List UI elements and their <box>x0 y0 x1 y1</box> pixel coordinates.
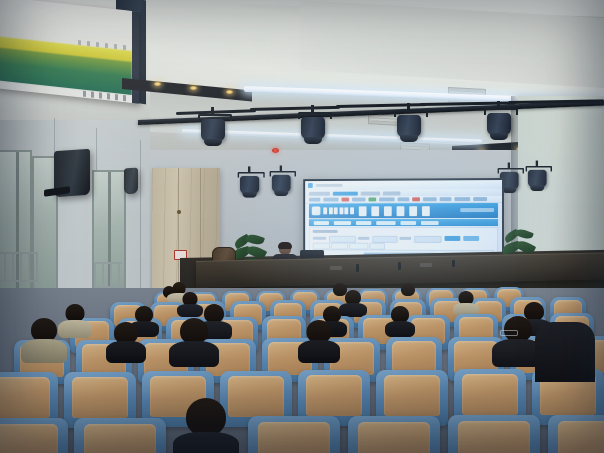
filter-input[interactable] <box>372 236 397 242</box>
attendee <box>496 316 540 358</box>
toolbar-button[interactable] <box>398 197 410 201</box>
primary-navigation-bar <box>309 219 498 226</box>
browser-tab-active[interactable] <box>333 191 358 195</box>
attendee <box>172 318 216 358</box>
light-body <box>201 119 225 141</box>
seat-back-panel <box>558 421 604 453</box>
light-lens <box>502 188 516 193</box>
light-lens <box>530 186 544 191</box>
plant-leaf <box>514 227 534 241</box>
safety-railing <box>0 252 38 282</box>
light-body <box>301 117 325 139</box>
operation-button[interactable] <box>331 243 348 249</box>
wall-speaker-right <box>124 168 138 195</box>
toolbar-button[interactable] <box>412 197 420 201</box>
ceiling-monitor <box>0 0 139 104</box>
auditorium-seat[interactable] <box>0 418 68 453</box>
light-lens <box>400 135 418 142</box>
seat-back-panel <box>392 341 436 374</box>
query-button[interactable] <box>445 236 461 240</box>
filter-input[interactable] <box>329 236 356 242</box>
seat-back-panel <box>258 422 330 453</box>
lecture-hall-scene <box>0 0 604 453</box>
seat-back-panel <box>358 422 430 453</box>
toolbar-button[interactable] <box>352 198 366 202</box>
toolbar-button[interactable] <box>341 198 349 202</box>
toolbar-button[interactable] <box>440 197 452 201</box>
nav-menu-item[interactable] <box>421 221 439 225</box>
light-lens <box>274 191 288 196</box>
filter-label <box>358 237 370 240</box>
window-title-text <box>316 183 343 187</box>
attendee-shoulders <box>298 340 340 363</box>
light-lens <box>490 133 508 140</box>
auditorium-seat[interactable] <box>348 416 440 453</box>
nav-menu-item[interactable] <box>314 221 329 225</box>
attendee-shoulders <box>21 339 67 363</box>
attendee-shoulders <box>169 341 219 367</box>
attendee <box>24 318 64 354</box>
filter-label <box>399 237 411 240</box>
auditorium-seat[interactable] <box>548 415 604 453</box>
browser-tab[interactable] <box>309 191 330 195</box>
toolbar-button[interactable] <box>473 197 487 201</box>
system-name-text <box>323 207 353 214</box>
attendee-shoulders <box>385 321 415 337</box>
plant-leaf <box>245 232 265 246</box>
auditorium-seat[interactable] <box>248 416 340 453</box>
attendee-shoulders <box>535 322 595 382</box>
toolbar-button[interactable] <box>423 197 437 201</box>
seat-back-panel <box>228 376 284 417</box>
light-body <box>272 175 291 192</box>
light-body <box>487 113 511 135</box>
nav-menu-item[interactable] <box>334 221 351 225</box>
ceiling-indicator-light <box>272 148 279 153</box>
nav-menu-item[interactable] <box>356 221 371 225</box>
attendee <box>386 306 414 332</box>
seat-back-panel <box>462 374 518 415</box>
nav-menu-item[interactable] <box>376 221 395 225</box>
user-account-area[interactable] <box>460 208 494 212</box>
attendee <box>454 291 478 313</box>
attendee-head <box>401 283 415 296</box>
auditorium-seat[interactable] <box>74 418 166 453</box>
light-lens <box>204 139 222 146</box>
presenter-hair <box>278 242 292 249</box>
attendee-shoulders <box>173 432 239 453</box>
system-headline-text <box>359 206 430 216</box>
light-body <box>240 176 259 194</box>
desk-microphone <box>452 260 455 267</box>
attendee <box>108 322 144 355</box>
browser-tab[interactable] <box>361 191 380 195</box>
desk-nameplate <box>330 266 342 270</box>
seat-back-panel <box>72 377 128 418</box>
filter-label <box>313 237 326 240</box>
nav-menu-item[interactable] <box>400 221 416 225</box>
app-favicon <box>308 183 313 188</box>
application-logo-icon <box>312 206 321 215</box>
attendee <box>300 320 338 354</box>
downlight <box>226 90 233 94</box>
seat-back-panel <box>306 375 362 416</box>
toolbar-button[interactable] <box>454 197 470 201</box>
attendee-shoulders <box>106 341 146 363</box>
desk-microphone <box>398 262 401 270</box>
seat-back-panel <box>384 375 440 416</box>
seat-back-panel <box>0 424 58 453</box>
desk-microphone <box>356 264 359 272</box>
breadcrumb <box>313 230 338 233</box>
reset-button[interactable] <box>463 236 479 241</box>
attendee-head <box>186 398 226 436</box>
filter-row <box>313 236 494 241</box>
toolbar-button[interactable] <box>379 197 395 201</box>
light-body <box>397 115 421 137</box>
light-body <box>528 170 547 187</box>
light-lens <box>242 192 256 198</box>
toolbar-button[interactable] <box>323 198 338 202</box>
attendee <box>60 304 90 332</box>
downlight <box>190 86 197 90</box>
downlight <box>154 82 161 86</box>
attendee-glasses-icon <box>500 330 518 336</box>
door-knob[interactable] <box>177 210 181 214</box>
seat-back-panel <box>84 424 156 453</box>
seat-back-panel <box>458 421 530 453</box>
record-operations-row <box>313 243 494 248</box>
operation-button[interactable] <box>369 243 384 249</box>
toolbar-button[interactable] <box>368 197 376 201</box>
operation-button[interactable] <box>313 243 330 249</box>
seat-back-panel <box>0 377 50 418</box>
application-header-banner <box>309 203 498 218</box>
toolbar-button[interactable] <box>309 198 320 202</box>
filter-input[interactable] <box>414 236 441 242</box>
attendee <box>538 322 592 392</box>
light-lens <box>304 137 322 144</box>
safety-railing <box>94 262 122 288</box>
attendee <box>178 398 234 453</box>
auditorium-seat[interactable] <box>448 415 540 453</box>
browser-tab[interactable] <box>383 191 400 195</box>
panel-seam <box>178 168 179 293</box>
desk-nameplate <box>420 263 432 267</box>
operation-button[interactable] <box>349 243 368 249</box>
